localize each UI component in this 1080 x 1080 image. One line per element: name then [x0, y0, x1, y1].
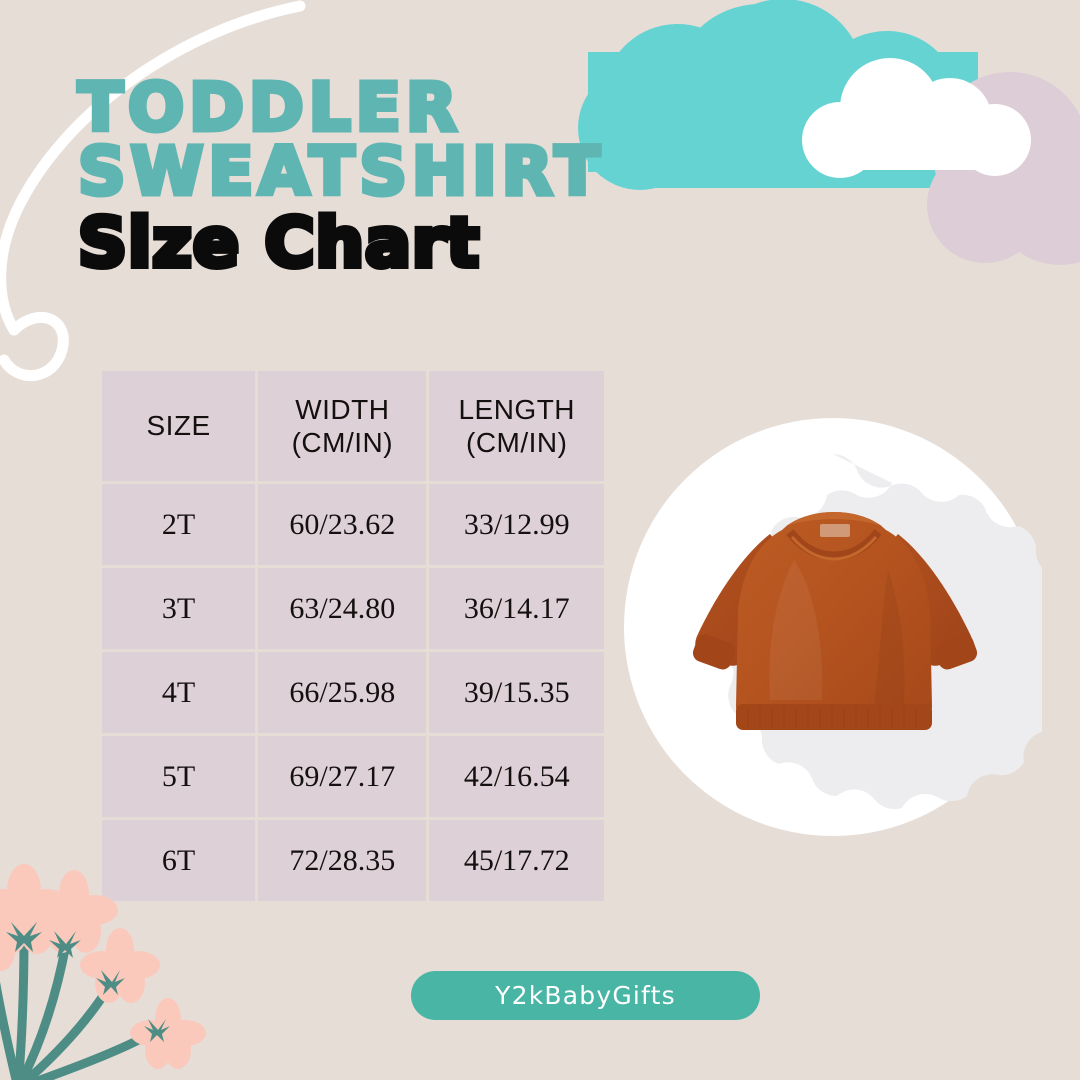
cell-size: 3T	[102, 568, 255, 649]
header-width-line1: WIDTH	[258, 393, 426, 426]
page-title: TODDLER SWEATSHIRT Size Chart	[78, 76, 738, 278]
lavender-cloud-icon	[927, 72, 1080, 265]
table-header-row: SIZE WIDTH (CM/IN) LENGTH (CM/IN)	[102, 371, 604, 481]
cell-length: 39/15.35	[429, 652, 604, 733]
table-row: 4T 66/25.98 39/15.35	[102, 652, 604, 733]
cell-width: 66/25.98	[258, 652, 426, 733]
flower-stems	[0, 936, 158, 1080]
cell-size: 6T	[102, 820, 255, 901]
cell-length: 42/16.54	[429, 736, 604, 817]
brand-badge-label: Y2kBabyGifts	[495, 981, 676, 1010]
header-length-line1: LENGTH	[429, 393, 604, 426]
header-width-line2: (CM/IN)	[258, 426, 426, 459]
sweatshirt-illustration	[674, 490, 994, 768]
cell-size: 5T	[102, 736, 255, 817]
table-row: 2T 60/23.62 33/12.99	[102, 484, 604, 565]
header-length-line2: (CM/IN)	[429, 426, 604, 459]
flower-calyx	[6, 922, 170, 1042]
size-chart-table: SIZE WIDTH (CM/IN) LENGTH (CM/IN) 2T 60/…	[99, 368, 607, 904]
cell-length: 33/12.99	[429, 484, 604, 565]
title-line-size-chart: Size Chart	[78, 210, 738, 278]
white-cloud-icon	[802, 58, 1031, 178]
title-line-toddler: TODDLER	[78, 76, 738, 140]
table-row: 3T 63/24.80 36/14.17	[102, 568, 604, 649]
cell-length: 36/14.17	[429, 568, 604, 649]
cell-width: 69/27.17	[258, 736, 426, 817]
table-row: 5T 69/27.17 42/16.54	[102, 736, 604, 817]
product-image-frame	[624, 418, 1042, 836]
table-row: 6T 72/28.35 45/17.72	[102, 820, 604, 901]
size-chart-graphic: TODDLER SWEATSHIRT Size Chart SIZE WIDTH…	[0, 0, 1080, 1080]
header-size: SIZE	[102, 371, 255, 481]
cell-width: 60/23.62	[258, 484, 426, 565]
cell-size: 2T	[102, 484, 255, 565]
cell-length: 45/17.72	[429, 820, 604, 901]
cell-size: 4T	[102, 652, 255, 733]
header-length: LENGTH (CM/IN)	[429, 371, 604, 481]
table-body: 2T 60/23.62 33/12.99 3T 63/24.80 36/14.1…	[102, 484, 604, 901]
header-width: WIDTH (CM/IN)	[258, 371, 426, 481]
title-line-sweatshirt: SWEATSHIRT	[78, 140, 738, 204]
cell-width: 63/24.80	[258, 568, 426, 649]
cell-width: 72/28.35	[258, 820, 426, 901]
brand-badge[interactable]: Y2kBabyGifts	[411, 971, 760, 1020]
